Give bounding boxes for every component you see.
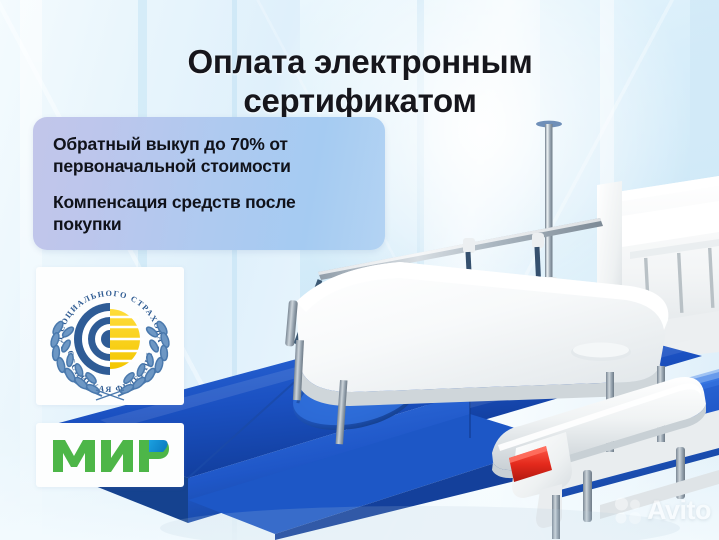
- mir-logo-icon: [51, 434, 169, 476]
- page-title-line-1: Оплата электронным: [188, 43, 533, 80]
- promo-banner: Оплата электронным сертификатом Обратный…: [0, 0, 719, 540]
- mir-logo-card: [36, 423, 184, 487]
- fss-logo-icon: ФОНД СОЦИАЛЬНОГО СТРАХОВАНИЯ РОССИЙСКАЯ …: [40, 270, 180, 402]
- benefits-callout: Обратный выкуп до 70% от первоначальной …: [33, 117, 385, 250]
- fss-logo-card: ФОНД СОЦИАЛЬНОГО СТРАХОВАНИЯ РОССИЙСКАЯ …: [36, 267, 184, 405]
- benefit-item-2: Компенсация средств после покупки: [53, 191, 365, 235]
- page-title-line-2: сертификатом: [40, 82, 680, 121]
- fss-emblem: [74, 303, 146, 375]
- page-title: Оплата электронным сертификатом: [40, 43, 680, 120]
- benefit-item-1: Обратный выкуп до 70% от первоначальной …: [53, 133, 365, 177]
